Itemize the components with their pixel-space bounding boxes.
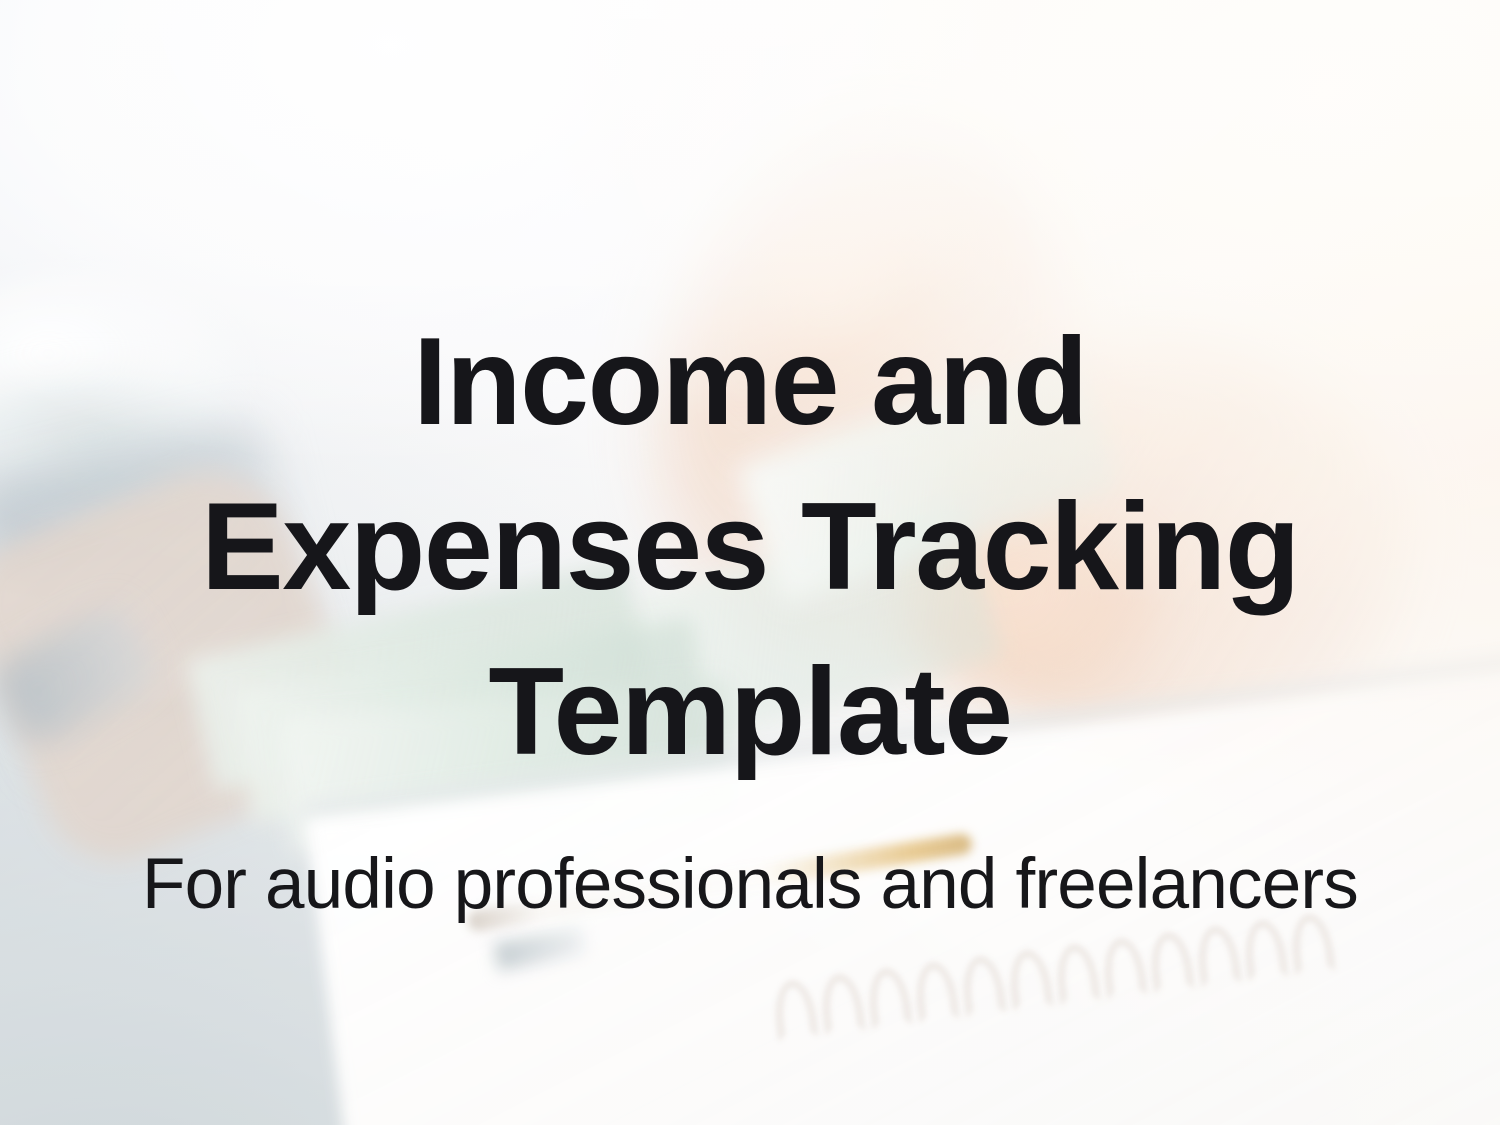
page-subtitle: For audio professionals and freelancers — [0, 847, 1500, 924]
title-line-2: Expenses Tracking — [0, 465, 1500, 630]
slide-content: Income and Expenses Tracking Template Fo… — [0, 0, 1500, 1125]
title-line-3: Template — [0, 630, 1500, 795]
page-title: Income and Expenses Tracking Template — [0, 300, 1500, 795]
title-line-1: Income and — [0, 300, 1500, 465]
title-slide: Income and Expenses Tracking Template Fo… — [0, 0, 1500, 1125]
